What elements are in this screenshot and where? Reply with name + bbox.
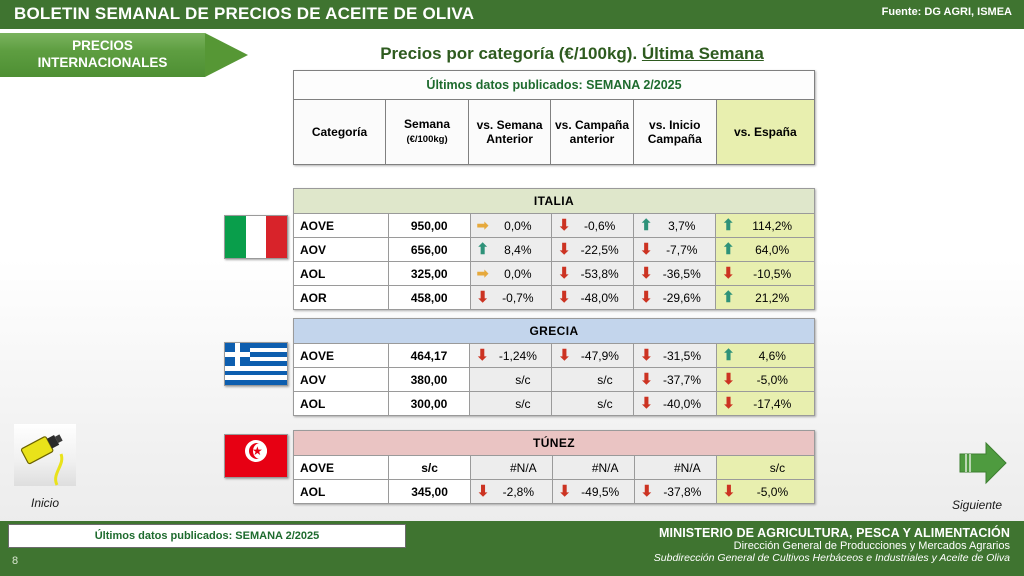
row-price: 325,00 (388, 262, 470, 286)
page-number: 8 (12, 555, 18, 567)
arrow-up-icon: ⬆ (716, 218, 740, 233)
data-cell-value: 8,4% (495, 243, 552, 257)
table-row: AOV380,00s/cs/c⬇-37,7%⬇-5,0% (294, 368, 815, 392)
arrow-up-icon: ⬆ (634, 218, 658, 233)
data-cell: s/c (716, 456, 814, 480)
siguiente-arrow-icon[interactable] (958, 440, 1008, 486)
data-cell: ⬇-5,0% (716, 480, 814, 504)
data-cell: ⬇-17,4% (716, 392, 814, 416)
source-label: Fuente: DG AGRI, ISMEA (882, 6, 1012, 18)
data-cell: ⬇-22,5% (552, 238, 634, 262)
table-header-columns-row: Categoría Semana (€/100kg) vs. Semana An… (294, 100, 815, 165)
country-name-band: ITALIA (294, 189, 815, 214)
table-row: AOL345,00⬇-2,8%⬇-49,5%⬇-37,8%⬇-5,0% (294, 480, 815, 504)
arrow-down-icon: ⬇ (552, 348, 576, 363)
country-band-row: ITALIA (294, 189, 815, 214)
top-header-bar: BOLETIN SEMANAL DE PRECIOS DE ACEITE DE … (0, 0, 1024, 29)
arrow-up-icon: ⬆ (471, 242, 495, 257)
data-cell-value: -37,7% (658, 373, 715, 387)
arrow-down-icon: ⬇ (634, 372, 658, 387)
arrow-down-icon: ⬇ (717, 372, 741, 387)
arrow-up-icon: ⬆ (716, 290, 740, 305)
data-cell: s/c (552, 392, 634, 416)
row-price: s/c (389, 456, 471, 480)
data-cell: ⬇-0,6% (552, 214, 634, 238)
data-cell: #N/A (552, 456, 634, 480)
row-category: AOVE (294, 456, 389, 480)
arrow-down-icon: ⬇ (634, 290, 658, 305)
section-title-main: Precios por categoría (€/100kg). (380, 44, 642, 63)
arrow-down-icon: ⬇ (717, 484, 741, 499)
data-cell-value: -1,24% (494, 349, 551, 363)
data-cell-value: -49,5% (577, 485, 634, 499)
data-cell-value: -40,0% (658, 397, 715, 411)
ministry-line-3: Subdirección General de Cultivos Herbáce… (450, 552, 1010, 564)
arrow-up-icon: ⬆ (717, 348, 741, 363)
data-cell: ⬇-36,5% (634, 262, 716, 286)
data-cell-value: s/c (576, 397, 633, 411)
data-cell: s/c (552, 368, 634, 392)
table-header: Últimos datos publicados: SEMANA 2/2025 … (293, 70, 815, 165)
arrow-flat-icon: ➡ (471, 218, 495, 233)
inicio-label[interactable]: Inicio (0, 496, 90, 510)
ministry-line-2: Dirección General de Producciones y Merc… (450, 540, 1010, 552)
data-cell-value: -10,5% (740, 267, 814, 281)
arrow-down-icon: ⬇ (634, 242, 658, 257)
footer-published-text: Últimos datos publicados: SEMANA 2/2025 (95, 530, 320, 542)
country-block-túnez: TÚNEZAOVEs/c#N/A#N/A#N/As/cAOL345,00⬇-2,… (293, 430, 815, 504)
section-banner: PRECIOS INTERNACIONALES (0, 33, 248, 77)
data-cell: ⬆114,2% (716, 214, 815, 238)
data-cell-value: #N/A (495, 461, 552, 475)
row-category: AOL (294, 262, 389, 286)
table-row: AOL300,00s/cs/c⬇-40,0%⬇-17,4% (294, 392, 815, 416)
data-cell: ➡0,0% (470, 262, 552, 286)
table-row: AOL325,00➡0,0%⬇-53,8%⬇-36,5%⬇-10,5% (294, 262, 815, 286)
row-category: AOV (294, 368, 389, 392)
col-vs-espana: vs. España (716, 100, 814, 165)
country-name-band: GRECIA (294, 319, 815, 344)
data-cell-value: 3,7% (658, 219, 715, 233)
arrow-up-icon: ⬆ (716, 242, 740, 257)
data-cell-value: -17,4% (741, 397, 814, 411)
table-row: AOV656,00⬆8,4%⬇-22,5%⬇-7,7%⬆64,0% (294, 238, 815, 262)
row-price: 458,00 (388, 286, 470, 310)
data-cell: ⬇-2,8% (471, 480, 553, 504)
arrow-down-icon: ⬇ (634, 348, 658, 363)
data-cell: ⬇-0,7% (470, 286, 552, 310)
data-cell: ⬇-53,8% (552, 262, 634, 286)
data-cell: ⬇-31,5% (634, 344, 716, 368)
data-cell-value: 114,2% (740, 219, 814, 233)
table-row: AOVEs/c#N/A#N/A#N/As/c (294, 456, 815, 480)
row-category: AOV (294, 238, 389, 262)
data-cell: ⬇-7,7% (634, 238, 716, 262)
data-cell: ⬇-5,0% (716, 368, 814, 392)
row-category: AOR (294, 286, 389, 310)
data-cell-value: 4,6% (741, 349, 814, 363)
arrow-flat-icon: ➡ (471, 266, 495, 281)
section-title: Precios por categoría (€/100kg). Última … (312, 44, 832, 64)
col-vs-semana-anterior: vs. Semana Anterior (469, 100, 551, 165)
table-row: AOR458,00⬇-0,7%⬇-48,0%⬇-29,6%⬆21,2% (294, 286, 815, 310)
siguiente-label[interactable]: Siguiente (930, 498, 1024, 512)
data-cell: ⬇-1,24% (470, 344, 552, 368)
banner-label-line1: PRECIOS (0, 37, 205, 54)
banner-chevron-tip-icon (205, 33, 248, 77)
data-cell-value: -0,7% (495, 291, 552, 305)
arrow-down-icon: ⬇ (635, 484, 659, 499)
col-categoria: Categoría (294, 100, 386, 165)
data-cell-value: -48,0% (576, 291, 633, 305)
data-cell-value: -31,5% (658, 349, 715, 363)
data-cell-value: 64,0% (740, 243, 814, 257)
data-cell-value: -7,7% (658, 243, 715, 257)
data-cell: #N/A (634, 456, 716, 480)
data-cell-value: -5,0% (741, 485, 814, 499)
ministry-block: MINISTERIO DE AGRICULTURA, PESCA Y ALIME… (450, 526, 1010, 564)
slide-root: BOLETIN SEMANAL DE PRECIOS DE ACEITE DE … (0, 0, 1024, 576)
data-cell-value: 21,2% (740, 291, 814, 305)
arrow-down-icon: ⬇ (470, 348, 494, 363)
data-cell-value: 0,0% (495, 219, 552, 233)
inicio-image-icon[interactable] (14, 424, 76, 486)
arrow-down-icon: ⬇ (634, 266, 658, 281)
arrow-down-icon: ⬇ (552, 266, 576, 281)
arrow-down-icon: ⬇ (552, 242, 576, 257)
col-vs-campana-anterior: vs. Campaña anterior (551, 100, 634, 165)
banner-label-line2: INTERNACIONALES (0, 54, 205, 71)
arrow-down-icon: ⬇ (634, 396, 658, 411)
arrow-down-icon: ⬇ (553, 484, 577, 499)
arrow-down-icon: ⬇ (717, 396, 741, 411)
arrow-down-icon: ⬇ (552, 290, 576, 305)
table-row: AOVE464,17⬇-1,24%⬇-47,9%⬇-31,5%⬆4,6% (294, 344, 815, 368)
data-cell: ⬆8,4% (470, 238, 552, 262)
data-cell: ⬆64,0% (716, 238, 815, 262)
data-cell-value: -2,8% (495, 485, 552, 499)
section-title-underlined: Última Semana (642, 44, 764, 63)
data-cell: ⬇-10,5% (716, 262, 815, 286)
ministry-line-1: MINISTERIO DE AGRICULTURA, PESCA Y ALIME… (450, 526, 1010, 540)
col-semana-unit: (€/100kg) (406, 134, 447, 145)
row-price: 380,00 (388, 368, 470, 392)
data-cell: ➡0,0% (470, 214, 552, 238)
data-cell-value: -53,8% (576, 267, 633, 281)
published-data-caption: Últimos datos publicados: SEMANA 2/2025 (294, 71, 815, 100)
data-cell: ⬇-37,8% (634, 480, 716, 504)
data-cell-value: s/c (494, 397, 551, 411)
arrow-down-icon: ⬇ (716, 266, 740, 281)
col-semana-label: Semana (387, 117, 467, 131)
country-block-italia: ITALIAAOVE950,00➡0,0%⬇-0,6%⬆3,7%⬆114,2%A… (293, 188, 815, 310)
row-category: AOL (294, 480, 389, 504)
row-category: AOVE (294, 344, 389, 368)
data-cell-value: #N/A (577, 461, 634, 475)
data-cell: ⬇-29,6% (634, 286, 716, 310)
col-vs-inicio-campana: vs. Inicio Campaña (633, 100, 716, 165)
data-cell-value: -36,5% (658, 267, 715, 281)
row-price: 656,00 (388, 238, 470, 262)
flag-italy-icon (224, 215, 288, 259)
data-cell-value: 0,0% (495, 267, 552, 281)
data-cell: ⬆3,7% (634, 214, 716, 238)
data-cell-value: s/c (576, 373, 633, 387)
arrow-down-icon: ⬇ (471, 484, 495, 499)
data-cell-value: -37,8% (659, 485, 716, 499)
row-category: AOVE (294, 214, 389, 238)
data-cell: ⬇-48,0% (552, 286, 634, 310)
country-block-grecia: GRECIAAOVE464,17⬇-1,24%⬇-47,9%⬇-31,5%⬆4,… (293, 318, 815, 416)
data-cell-value: -29,6% (658, 291, 715, 305)
data-cell: s/c (470, 392, 552, 416)
row-price: 345,00 (389, 480, 471, 504)
data-cell-value: s/c (741, 461, 814, 475)
row-price: 950,00 (388, 214, 470, 238)
row-price: 464,17 (388, 344, 470, 368)
data-cell: ⬇-40,0% (634, 392, 716, 416)
table-row: AOVE950,00➡0,0%⬇-0,6%⬆3,7%⬆114,2% (294, 214, 815, 238)
country-band-row: GRECIA (294, 319, 815, 344)
banner-label: PRECIOS INTERNACIONALES (0, 37, 205, 71)
arrow-down-icon: ⬇ (471, 290, 495, 305)
data-cell-value: s/c (494, 373, 551, 387)
data-cell: s/c (470, 368, 552, 392)
data-cell-value: -0,6% (576, 219, 633, 233)
flag-greece-icon (224, 342, 288, 386)
data-cell-value: -5,0% (741, 373, 814, 387)
data-cell-value: -47,9% (576, 349, 633, 363)
data-cell: ⬇-37,7% (634, 368, 716, 392)
row-category: AOL (294, 392, 389, 416)
data-cell: ⬆21,2% (716, 286, 815, 310)
country-name-band: TÚNEZ (294, 431, 815, 456)
footer-published-box: Últimos datos publicados: SEMANA 2/2025 (8, 524, 406, 548)
data-cell: ⬇-47,9% (552, 344, 634, 368)
data-cell-value: #N/A (659, 461, 716, 475)
data-cell: ⬆4,6% (716, 344, 814, 368)
page-title: BOLETIN SEMANAL DE PRECIOS DE ACEITE DE … (14, 4, 474, 24)
country-band-row: TÚNEZ (294, 431, 815, 456)
data-cell-value: -22,5% (576, 243, 633, 257)
data-cell: #N/A (471, 456, 553, 480)
table-header-caption-row: Últimos datos publicados: SEMANA 2/2025 (294, 71, 815, 100)
data-cell: ⬇-49,5% (552, 480, 634, 504)
col-semana: Semana (€/100kg) (386, 100, 469, 165)
flag-tunisia-icon: ★ (224, 434, 288, 478)
row-price: 300,00 (388, 392, 470, 416)
arrow-down-icon: ⬇ (552, 218, 576, 233)
